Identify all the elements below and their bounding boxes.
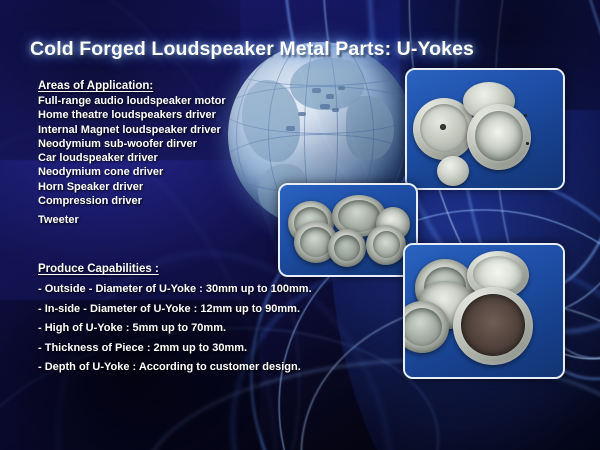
list-item: Tweeter (38, 213, 226, 227)
list-item: - Depth of U-Yoke : According to custome… (38, 358, 312, 378)
list-item: Horn Speaker driver (38, 180, 226, 194)
photo-u-yoke-parts-middle (278, 183, 418, 277)
list-item: Internal Magnet loudspeaker driver (38, 123, 226, 137)
produce-capabilities-block: Produce Capabilities : - Outside - Diame… (38, 263, 312, 378)
list-item: Neodymium cone driver (38, 165, 226, 179)
list-item: - In-side - Diameter of U-Yoke : 12mm up… (38, 300, 312, 320)
page-title: Cold Forged Loudspeaker Metal Parts: U-Y… (30, 38, 570, 61)
list-item: Home theatre loudspeakers driver (38, 108, 226, 122)
list-item: - Outside - Diameter of U-Yoke : 30mm up… (38, 280, 312, 300)
poster-canvas: Cold Forged Loudspeaker Metal Parts: U-Y… (0, 0, 600, 450)
list-item: - High of U-Yoke : 5mm up to 70mm. (38, 319, 312, 339)
capabilities-heading: Produce Capabilities : (38, 263, 312, 275)
list-item: - Thickness of Piece : 2mm up to 30mm. (38, 339, 312, 359)
photo-u-yoke-parts-top-right (405, 68, 565, 190)
list-item: Car loudspeaker driver (38, 151, 226, 165)
list-item: Compression driver (38, 194, 226, 208)
list-item: Neodymium sub-woofer dirver (38, 137, 226, 151)
list-item: Full-range audio loudspeaker motor (38, 94, 226, 108)
photo-u-yoke-parts-bottom-right (403, 243, 565, 379)
footer: Shining Jins Manufacture: SHINING JINS E… (0, 398, 600, 450)
areas-of-application-block: Areas of Application: Full-range audio l… (38, 80, 226, 228)
areas-heading: Areas of Application: (38, 80, 226, 92)
